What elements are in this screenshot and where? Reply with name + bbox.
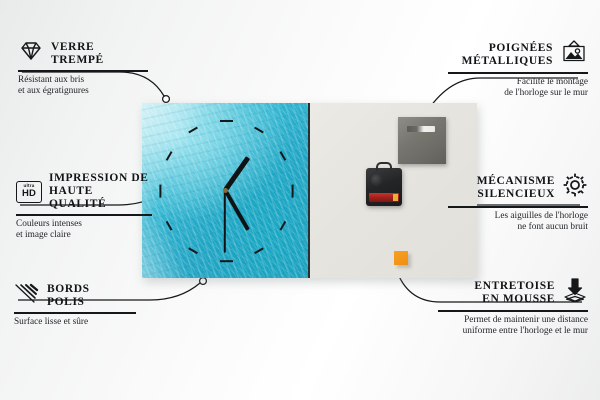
hanger-slot [407, 126, 435, 132]
callout-desc-line2: et image claire [16, 230, 71, 240]
callout-title-line2: EN MOUSSE [482, 293, 555, 305]
callout-rule [438, 310, 588, 312]
callout-title-line2: SILENCIEUX [477, 188, 555, 200]
callout-title-line2: TREMPÉ [51, 54, 104, 66]
callout-rule [14, 312, 136, 314]
callout-desc-line1: Facilite le montage [517, 77, 588, 87]
mechanism-hanger-loop [376, 162, 392, 171]
mechanism-dial [371, 174, 383, 186]
callout-bords-polis: BORDS POLIS Surface lisse et sûre [14, 282, 136, 328]
polished-edge-lines-icon [14, 282, 40, 309]
infographic-canvas: VERRE TREMPÉ Résistant aux bris et aux é… [0, 0, 600, 400]
ultra-hd-badge-icon: ultra HD [16, 181, 42, 203]
callout-title-line1: MÉCANISME [477, 175, 555, 187]
hour-hand [223, 156, 250, 191]
callout-rule [16, 214, 152, 216]
callout-title-line2: HAUTE QUALITÉ [49, 185, 106, 210]
callout-desc-line2: ne font aucun bruit [518, 222, 588, 232]
callout-title-line1: ENTRETOISE [474, 280, 555, 292]
callout-rule [448, 206, 588, 208]
callout-title-line1: IMPRESSION DE [49, 172, 149, 184]
callout-title-line2: POLIS [47, 296, 85, 308]
callout-desc-line1: Surface lisse et sûre [14, 317, 88, 327]
callout-mecanisme: MÉCANISME SILENCIEUX Les aiguilles de l'… [448, 172, 588, 233]
metal-hanger-plate [398, 117, 446, 164]
badge-hd-label: HD [22, 189, 36, 199]
callout-impression: ultra HD IMPRESSION DE HAUTE QUALITÉ Cou… [16, 172, 152, 241]
callout-desc-line2: et aux égratignures [18, 86, 89, 96]
callout-rule [18, 70, 148, 72]
clock-mechanism [366, 168, 402, 206]
callout-desc-line1: Permet de maintenir une distance [464, 315, 588, 325]
callout-title-line1: BORDS [47, 283, 90, 295]
foam-spacer [394, 251, 408, 265]
callout-desc-line1: Couleurs intenses [16, 219, 82, 229]
callout-desc-line2: de l'horloge sur le mur [504, 88, 588, 98]
second-hand [224, 191, 226, 253]
clock-center-cap [223, 188, 228, 193]
callout-rule [448, 72, 588, 74]
gear-icon [562, 172, 588, 203]
product-image [142, 103, 477, 278]
minute-hand [223, 189, 250, 231]
mechanism-battery [369, 193, 399, 202]
callout-title-line2: MÉTALLIQUES [462, 55, 553, 67]
leader-dot-verre-trempe [163, 96, 170, 103]
callout-poignees: POIGNÉES MÉTALLIQUES Facilite le montage… [448, 40, 588, 99]
callout-desc-line1: Résistant aux bris [18, 75, 84, 85]
callout-entretoise: ENTRETOISE EN MOUSSE Permet de maintenir… [438, 278, 588, 337]
clock-front-face [142, 103, 310, 278]
callout-verre-trempe: VERRE TREMPÉ Résistant aux bris et aux é… [18, 40, 148, 97]
callout-desc-line1: Les aiguilles de l'horloge [495, 211, 588, 221]
callout-desc-line2: uniforme entre l'horloge et le mur [463, 326, 588, 336]
hanging-picture-frame-icon [560, 40, 588, 69]
battery-positive-tip [393, 194, 398, 201]
callout-title-line1: POIGNÉES [489, 42, 553, 54]
callout-title-line1: VERRE [51, 41, 94, 53]
arrow-down-onto-pad-icon [562, 278, 588, 307]
diamond-icon [18, 40, 44, 67]
